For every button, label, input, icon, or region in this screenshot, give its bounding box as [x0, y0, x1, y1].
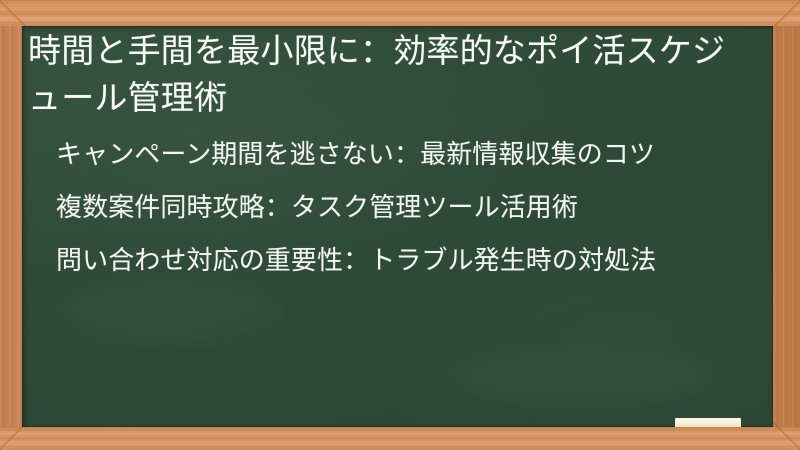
wood-frame-top-rail	[0, 0, 800, 26]
list-item[interactable]: 複数案件同時攻略：タスク管理ツール活用術	[56, 186, 756, 229]
chalk-dust-smudge	[452, 346, 712, 406]
blackboard-card: 時間と手間を最小限に：効率的なポイ活スケジュール管理術 キャンペーン期間を逃さな…	[0, 0, 800, 450]
list-item[interactable]: 問い合わせ対応の重要性：トラブル発生時の対処法	[56, 239, 756, 282]
chalk-stick-icon	[675, 418, 741, 427]
list-item[interactable]: キャンペーン期間を逃さない：最新情報収集のコツ	[56, 133, 756, 176]
chalkboard-surface: 時間と手間を最小限に：効率的なポイ活スケジュール管理術 キャンペーン期間を逃さな…	[22, 26, 773, 427]
wood-frame-bottom-rail	[0, 427, 800, 450]
page-title: 時間と手間を最小限に：効率的なポイ活スケジュール管理術	[28, 27, 750, 121]
chalk-dust-smudge	[62, 276, 282, 346]
topic-list: キャンペーン期間を逃さない：最新情報収集のコツ 複数案件同時攻略：タスク管理ツー…	[56, 133, 756, 282]
